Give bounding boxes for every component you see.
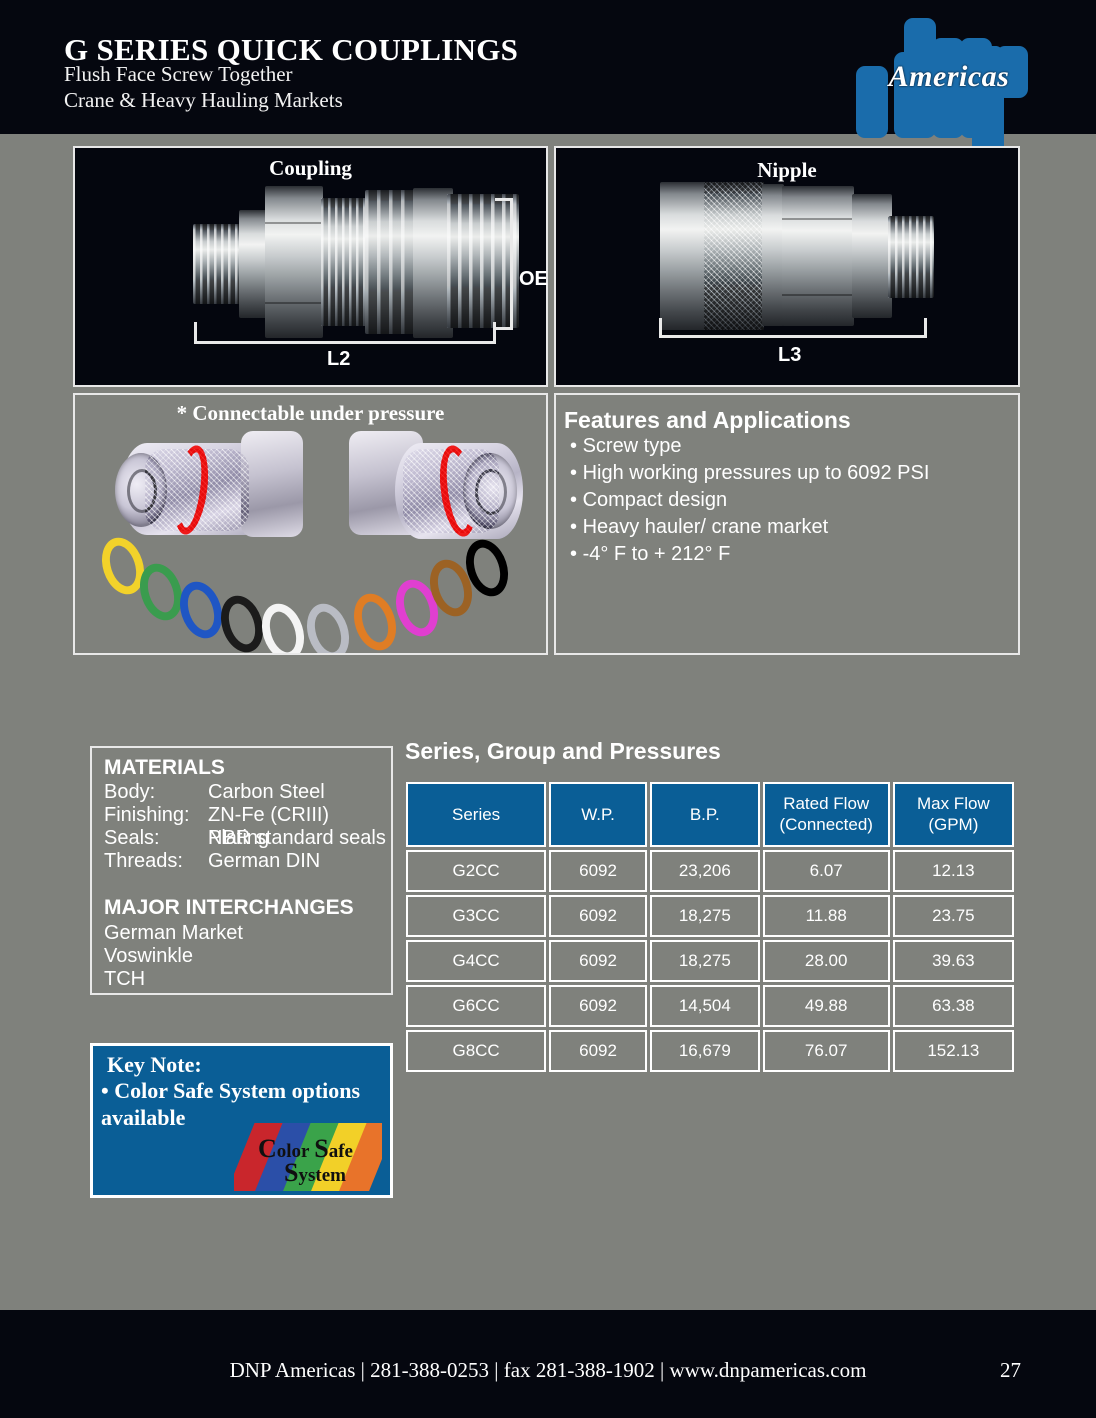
cell-rated-flow: 76.07 bbox=[763, 1030, 890, 1072]
cell-rated-flow: 11.88 bbox=[763, 895, 890, 937]
interchange-item-2: Voswinkle bbox=[104, 945, 193, 968]
color-safe-c: C bbox=[258, 1134, 277, 1163]
color-seal-ring-arc bbox=[75, 395, 546, 653]
coupling-collar bbox=[365, 190, 417, 334]
table-row: G4CC 6092 18,275 28.00 39.63 bbox=[406, 940, 1014, 982]
spec-table-title: Series, Group and Pressures bbox=[405, 738, 721, 765]
materials-key-threads: Threads: bbox=[104, 850, 183, 873]
cell-max-flow: 23.75 bbox=[893, 895, 1014, 937]
col-header-bp: B.P. bbox=[650, 782, 760, 847]
nipple-panel: Nipple L3 bbox=[554, 146, 1020, 387]
coupling-l2-bracket bbox=[194, 322, 496, 344]
cell-max-flow: 12.13 bbox=[893, 850, 1014, 892]
color-safe-line-2: System bbox=[284, 1158, 346, 1188]
key-note-box: Key Note: • Color Safe System options av… bbox=[90, 1043, 393, 1198]
nipple-rear-collar bbox=[852, 194, 892, 318]
interchanges-heading: MAJOR INTERCHANGES bbox=[104, 896, 354, 920]
feature-bullet-1: • bbox=[570, 435, 583, 457]
col-header-wp: W.P. bbox=[549, 782, 647, 847]
page-number: 27 bbox=[1000, 1358, 1021, 1383]
materials-heading: MATERIALS bbox=[104, 756, 225, 780]
col-header-bp-line1: B.P. bbox=[690, 805, 720, 824]
connectable-under-pressure-panel: * Connectable under pressure bbox=[73, 393, 548, 655]
materials-value-body: Carbon Steel bbox=[208, 781, 325, 804]
feature-label-3: Compact design bbox=[583, 489, 728, 511]
feature-item-5: • -4° F to + 212° F bbox=[570, 543, 730, 566]
color-safe-text: Color Safe System bbox=[242, 1132, 382, 1190]
cell-wp: 6092 bbox=[549, 850, 647, 892]
nipple-sleeve bbox=[660, 182, 706, 330]
cell-bp: 18,275 bbox=[650, 940, 760, 982]
spec-table: Series W.P. B.P. Rated Flow (Connected) … bbox=[403, 779, 1017, 1075]
col-header-rated-flow: Rated Flow (Connected) bbox=[763, 782, 890, 847]
coupling-hex-edge-top bbox=[265, 222, 323, 224]
nipple-knurl-body bbox=[704, 182, 764, 330]
cell-rated-flow: 49.88 bbox=[763, 985, 890, 1027]
feature-item-2: • High working pressures up to 6092 PSI bbox=[570, 462, 929, 485]
col-header-max-flow-line1: Max Flow bbox=[917, 794, 990, 813]
coupling-hex-nut bbox=[265, 186, 323, 338]
feature-label-4: Heavy hauler/ crane market bbox=[583, 516, 829, 538]
cell-series: G6CC bbox=[406, 985, 546, 1027]
feature-label-1: Screw type bbox=[583, 435, 682, 457]
col-header-series: Series bbox=[406, 782, 546, 847]
table-row: G2CC 6092 23,206 6.07 12.13 bbox=[406, 850, 1014, 892]
color-safe-system-logo: Color Safe System bbox=[234, 1123, 382, 1191]
feature-label-5: -4° F to + 212° F bbox=[583, 543, 731, 565]
nipple-l3-label: L3 bbox=[778, 344, 801, 367]
nipple-l3-bracket bbox=[659, 318, 927, 338]
cell-series: G8CC bbox=[406, 1030, 546, 1072]
cell-rated-flow: 6.07 bbox=[763, 850, 890, 892]
materials-value-seals: NBR standard seals bbox=[208, 827, 386, 850]
feature-bullet-2: • bbox=[570, 462, 583, 484]
nipple-hex-edge-top bbox=[782, 218, 854, 220]
cell-series: G3CC bbox=[406, 895, 546, 937]
coupling-hex-edge-bottom bbox=[265, 302, 323, 304]
col-header-max-flow: Max Flow (GPM) bbox=[893, 782, 1014, 847]
cell-max-flow: 39.63 bbox=[893, 940, 1014, 982]
col-header-rated-flow-line2: (Connected) bbox=[779, 815, 873, 834]
dnp-americas-logo: Americas bbox=[856, 8, 1032, 134]
materials-key-seals: Seals: bbox=[104, 827, 160, 850]
cell-wp: 6092 bbox=[549, 940, 647, 982]
cell-rated-flow: 28.00 bbox=[763, 940, 890, 982]
color-seal-ring-6 bbox=[300, 598, 356, 655]
key-note-title: Key Note: bbox=[107, 1052, 202, 1078]
col-header-wp-line1: W.P. bbox=[581, 805, 615, 824]
cell-bp: 16,679 bbox=[650, 1030, 760, 1072]
color-safe-s2: S bbox=[284, 1158, 298, 1187]
nipple-hex-edge-bottom bbox=[782, 294, 854, 296]
coupling-image bbox=[75, 148, 546, 385]
page-subtitle-2: Crane & Heavy Hauling Markets bbox=[64, 88, 343, 113]
materials-key-finishing: Finishing: bbox=[104, 804, 190, 827]
nipple-thread bbox=[888, 216, 934, 298]
feature-bullet-5: • bbox=[570, 543, 583, 565]
col-header-series-line1: Series bbox=[452, 805, 500, 824]
table-row: G8CC 6092 16,679 76.07 152.13 bbox=[406, 1030, 1014, 1072]
feature-item-3: • Compact design bbox=[570, 489, 727, 512]
coupling-l2-label: L2 bbox=[327, 348, 350, 371]
catalog-page: G SERIES QUICK COUPLINGS Flush Face Scre… bbox=[0, 0, 1096, 1418]
cell-bp: 18,275 bbox=[650, 895, 760, 937]
page-subtitle-1: Flush Face Screw Together bbox=[64, 62, 293, 87]
coupling-thread-left bbox=[193, 224, 241, 304]
cell-wp: 6092 bbox=[549, 895, 647, 937]
coupling-panel: Coupling OE L2 bbox=[73, 146, 548, 387]
color-safe-ystem: ystem bbox=[298, 1165, 345, 1186]
nipple-shoulder bbox=[762, 184, 784, 326]
feature-label-2: High working pressures up to 6092 PSI bbox=[583, 462, 930, 484]
cell-wp: 6092 bbox=[549, 985, 647, 1027]
spec-table-header-row: Series W.P. B.P. Rated Flow (Connected) … bbox=[406, 782, 1014, 847]
feature-item-4: • Heavy hauler/ crane market bbox=[570, 516, 828, 539]
color-seal-ring-5 bbox=[255, 598, 311, 655]
interchange-item-1: German Market bbox=[104, 922, 243, 945]
feature-item-1: • Screw type bbox=[570, 435, 682, 458]
col-header-max-flow-line2: (GPM) bbox=[928, 815, 978, 834]
cell-max-flow: 152.13 bbox=[893, 1030, 1014, 1072]
features-title: Features and Applications bbox=[564, 407, 851, 434]
interchange-item-3: TCH bbox=[104, 968, 145, 991]
feature-bullet-3: • bbox=[570, 489, 583, 511]
materials-key-body: Body: bbox=[104, 781, 155, 804]
table-row: G6CC 6092 14,504 49.88 63.38 bbox=[406, 985, 1014, 1027]
coupling-mid-body bbox=[321, 198, 367, 326]
logo-wordmark: Americas bbox=[874, 60, 1024, 94]
cell-series: G2CC bbox=[406, 850, 546, 892]
coupling-oe-label: OE bbox=[519, 268, 548, 291]
col-header-rated-flow-line1: Rated Flow bbox=[783, 794, 869, 813]
cell-max-flow: 63.38 bbox=[893, 985, 1014, 1027]
cell-wp: 6092 bbox=[549, 1030, 647, 1072]
color-seal-ring-7 bbox=[347, 588, 403, 655]
page-header: G SERIES QUICK COUPLINGS Flush Face Scre… bbox=[0, 0, 1096, 134]
cell-bp: 23,206 bbox=[650, 850, 760, 892]
table-row: G3CC 6092 18,275 11.88 23.75 bbox=[406, 895, 1014, 937]
coupling-oe-bracket bbox=[495, 198, 513, 330]
nipple-hex-body bbox=[782, 186, 854, 326]
feature-bullet-4: • bbox=[570, 516, 583, 538]
materials-panel: MATERIALS Body: Carbon Steel Finishing: … bbox=[90, 746, 393, 995]
cell-series: G4CC bbox=[406, 940, 546, 982]
footer-contact-text: DNP Americas | 281-388-0253 | fax 281-38… bbox=[0, 1358, 1096, 1383]
features-panel: Features and Applications • Screw type •… bbox=[554, 393, 1020, 655]
cell-bp: 14,504 bbox=[650, 985, 760, 1027]
materials-value-threads: German DIN bbox=[208, 850, 320, 873]
coupling-shoulder bbox=[239, 210, 267, 318]
